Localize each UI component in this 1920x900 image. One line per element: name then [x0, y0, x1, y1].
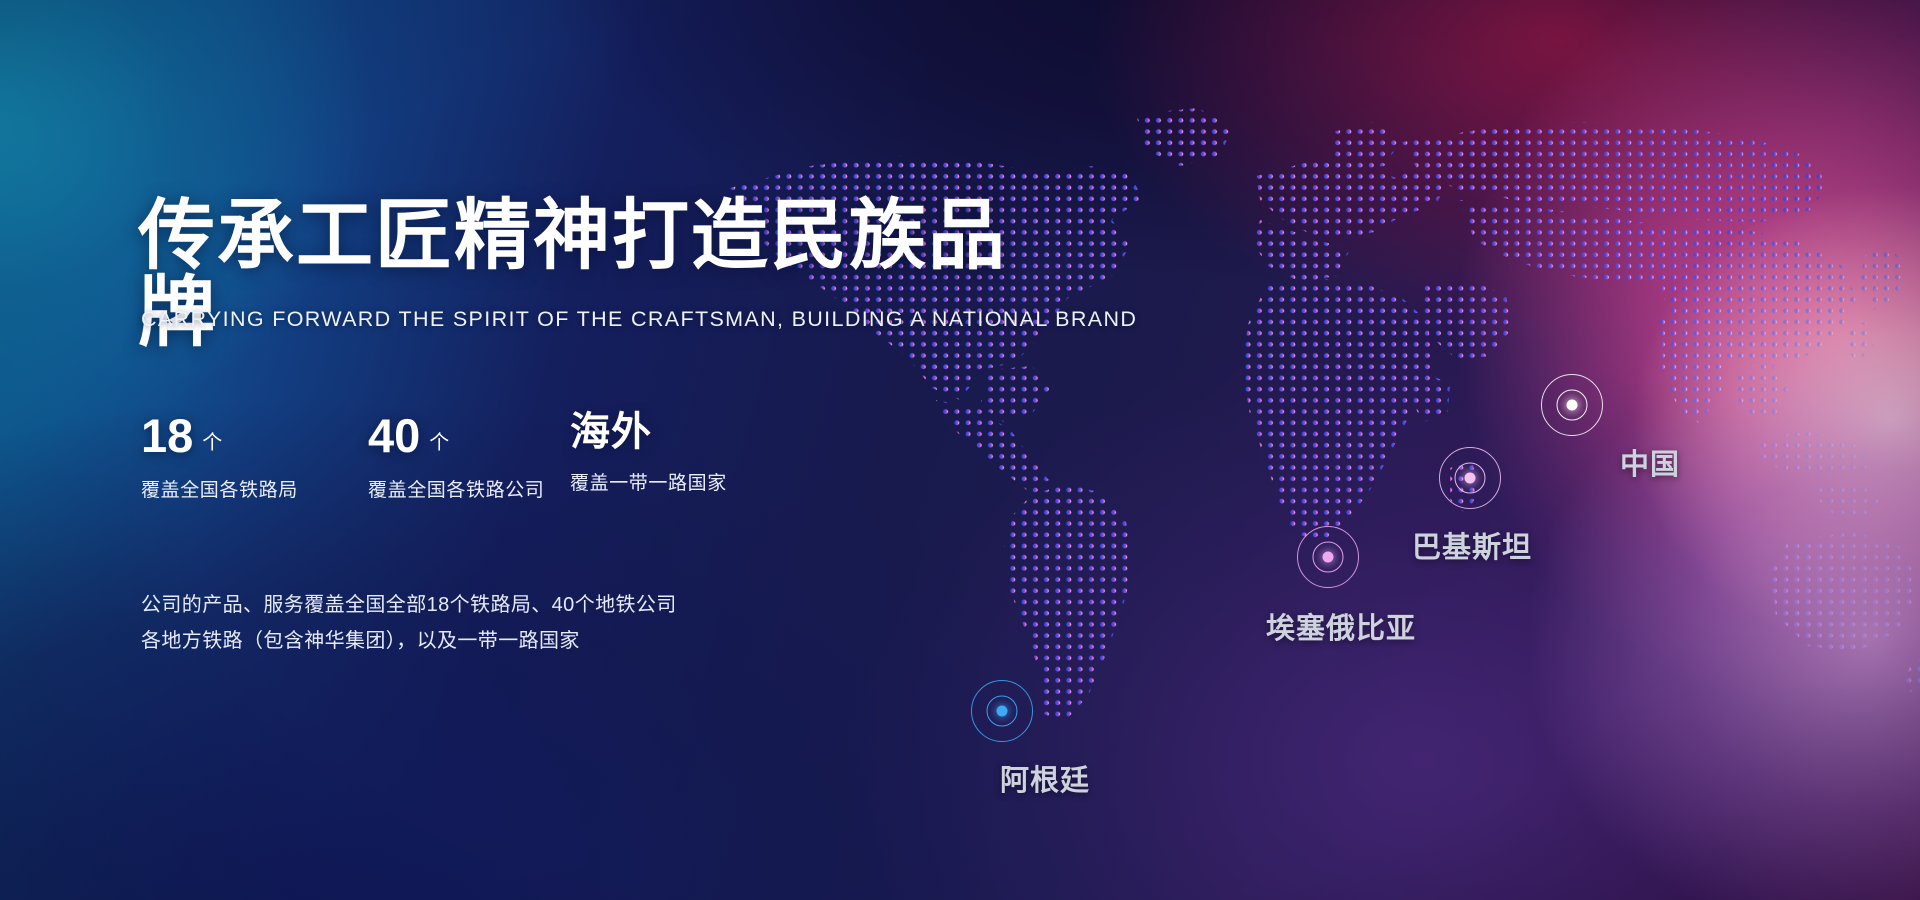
stat-unit: 个 — [429, 426, 449, 455]
description-line-2: 各地方铁路（包含神华集团），以及一带一路国家 — [141, 623, 677, 659]
stat-number: 40 — [368, 412, 420, 459]
page-subtitle: CARRYING FORWARD THE SPIRIT OF THE CRAFT… — [141, 307, 1137, 332]
stat-item: 海外覆盖一带一路国家 — [570, 412, 727, 495]
description-line-1: 公司的产品、服务覆盖全国全部18个铁路局、40个地铁公司 — [141, 587, 677, 623]
stat-description: 覆盖一带一路国家 — [570, 468, 727, 495]
map-marker-label: 巴基斯坦 — [1412, 524, 1532, 566]
description-paragraph: 公司的产品、服务覆盖全国全部18个铁路局、40个地铁公司 各地方铁路（包含神华集… — [141, 587, 677, 659]
stat-item: 40个覆盖全国各铁路公司 — [368, 412, 544, 502]
stat-number: 海外 — [570, 412, 652, 452]
stat-value-row: 40个 — [368, 412, 544, 459]
stat-number: 18 — [141, 412, 193, 459]
stat-unit: 个 — [202, 426, 222, 455]
stat-value-row: 18个 — [141, 412, 298, 459]
marker-center-dot — [1465, 473, 1476, 484]
stats-row: 18个覆盖全国各铁路局40个覆盖全国各铁路公司海外覆盖一带一路国家 — [141, 412, 901, 522]
map-marker-label: 埃塞俄比亚 — [1266, 605, 1416, 647]
stat-description: 覆盖全国各铁路局 — [141, 475, 298, 502]
hero-banner: 中国巴基斯坦埃塞俄比亚阿根廷 传承工匠精神打造民族品牌 CARRYING FOR… — [0, 0, 1920, 900]
hero-content: 传承工匠精神打造民族品牌 CARRYING FORWARD THE SPIRIT… — [138, 0, 1018, 900]
stat-item: 18个覆盖全国各铁路局 — [141, 412, 298, 502]
marker-center-dot — [1567, 400, 1578, 411]
map-marker-label: 中国 — [1620, 441, 1680, 483]
marker-center-dot — [1323, 552, 1334, 563]
stat-description: 覆盖全国各铁路公司 — [368, 475, 544, 502]
stat-value-row: 海外 — [570, 412, 727, 452]
